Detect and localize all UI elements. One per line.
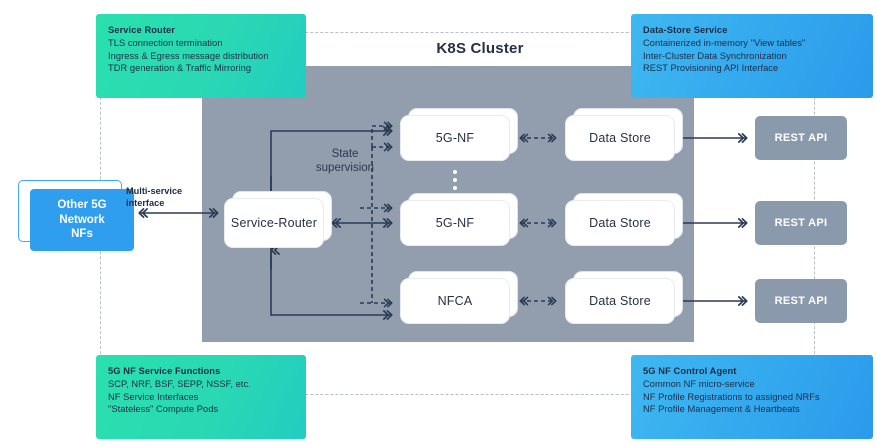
callout-title: 5G NF Service Functions <box>108 365 294 377</box>
node-5g-nf-row2[interactable]: 5G-NF <box>400 200 510 246</box>
callout-line: Inter-Cluster Data Synchronization <box>643 50 861 62</box>
node-other-5g-network-nfs[interactable]: Other 5G Network NFs <box>18 180 122 242</box>
callout-title: Data-Store Service <box>643 24 861 36</box>
card-front-layer: 5G-NF <box>400 115 510 161</box>
label-multi-service-interface: Multi-service interface <box>126 186 206 209</box>
callout-line: Containerized in-memory "View tables" <box>643 37 861 49</box>
callout-line: NF Profile Management & Heartbeats <box>643 403 861 415</box>
node-rest-api-row2[interactable]: REST API <box>755 201 847 245</box>
node-rest-api-row1[interactable]: REST API <box>755 116 847 160</box>
node-data-store-row1[interactable]: Data Store <box>565 115 675 161</box>
node-label-line: NFs <box>57 227 106 241</box>
card-front-layer: Other 5G Network NFs <box>30 189 134 251</box>
card-front-layer: Data Store <box>565 278 675 324</box>
callout-nf-service-functions: 5G NF Service Functions SCP, NRF, BSF, S… <box>96 355 306 439</box>
label-line: State <box>306 148 384 162</box>
label-state-supervision: State supervision <box>306 148 384 176</box>
callout-nf-control-agent: 5G NF Control Agent Common NF micro-serv… <box>631 355 873 439</box>
label-line: supervision <box>306 162 384 176</box>
callout-line: NF Profile Registrations to assigned NRF… <box>643 391 861 403</box>
callout-line: Common NF micro-service <box>643 378 861 390</box>
node-data-store-row3[interactable]: Data Store <box>565 278 675 324</box>
node-label-line: Other 5G <box>57 198 106 212</box>
diagram-canvas: K8S Cluster <box>0 0 877 446</box>
card-front-layer: Data Store <box>565 115 675 161</box>
ellipsis-icon <box>453 170 457 190</box>
node-data-store-row2[interactable]: Data Store <box>565 200 675 246</box>
node-service-router[interactable]: Service-Router <box>224 198 324 248</box>
callout-line: Ingress & Egress message distribution <box>108 50 294 62</box>
callout-data-store-service: Data-Store Service Containerized in-memo… <box>631 14 873 98</box>
node-label: REST API <box>775 132 828 144</box>
k8s-cluster-title: K8S Cluster <box>330 40 630 57</box>
callout-title: 5G NF Control Agent <box>643 365 861 377</box>
callout-line: "Stateless" Compute Pods <box>108 403 294 415</box>
node-label: REST API <box>775 217 828 229</box>
node-label-line: Network <box>57 213 106 227</box>
card-front-layer: Service-Router <box>224 198 324 248</box>
callout-title: Service Router <box>108 24 294 36</box>
callout-service-router: Service Router TLS connection terminatio… <box>96 14 306 98</box>
label-line: interface <box>126 198 206 210</box>
node-5g-nf-row1[interactable]: 5G-NF <box>400 115 510 161</box>
callout-line: TLS connection termination <box>108 37 294 49</box>
callout-line: TDR generation & Traffic Mirroring <box>108 62 294 74</box>
card-front-layer: 5G-NF <box>400 200 510 246</box>
node-rest-api-row3[interactable]: REST API <box>755 279 847 323</box>
card-front-layer: NFCA <box>400 278 510 324</box>
callout-line: REST Provisioning API Interface <box>643 62 861 74</box>
node-nfca-row3[interactable]: NFCA <box>400 278 510 324</box>
callout-line: SCP, NRF, BSF, SEPP, NSSF, etc. <box>108 378 294 390</box>
card-front-layer: Data Store <box>565 200 675 246</box>
node-label: REST API <box>775 295 828 307</box>
label-line: Multi-service <box>126 186 206 198</box>
callout-line: NF Service Interfaces <box>108 391 294 403</box>
